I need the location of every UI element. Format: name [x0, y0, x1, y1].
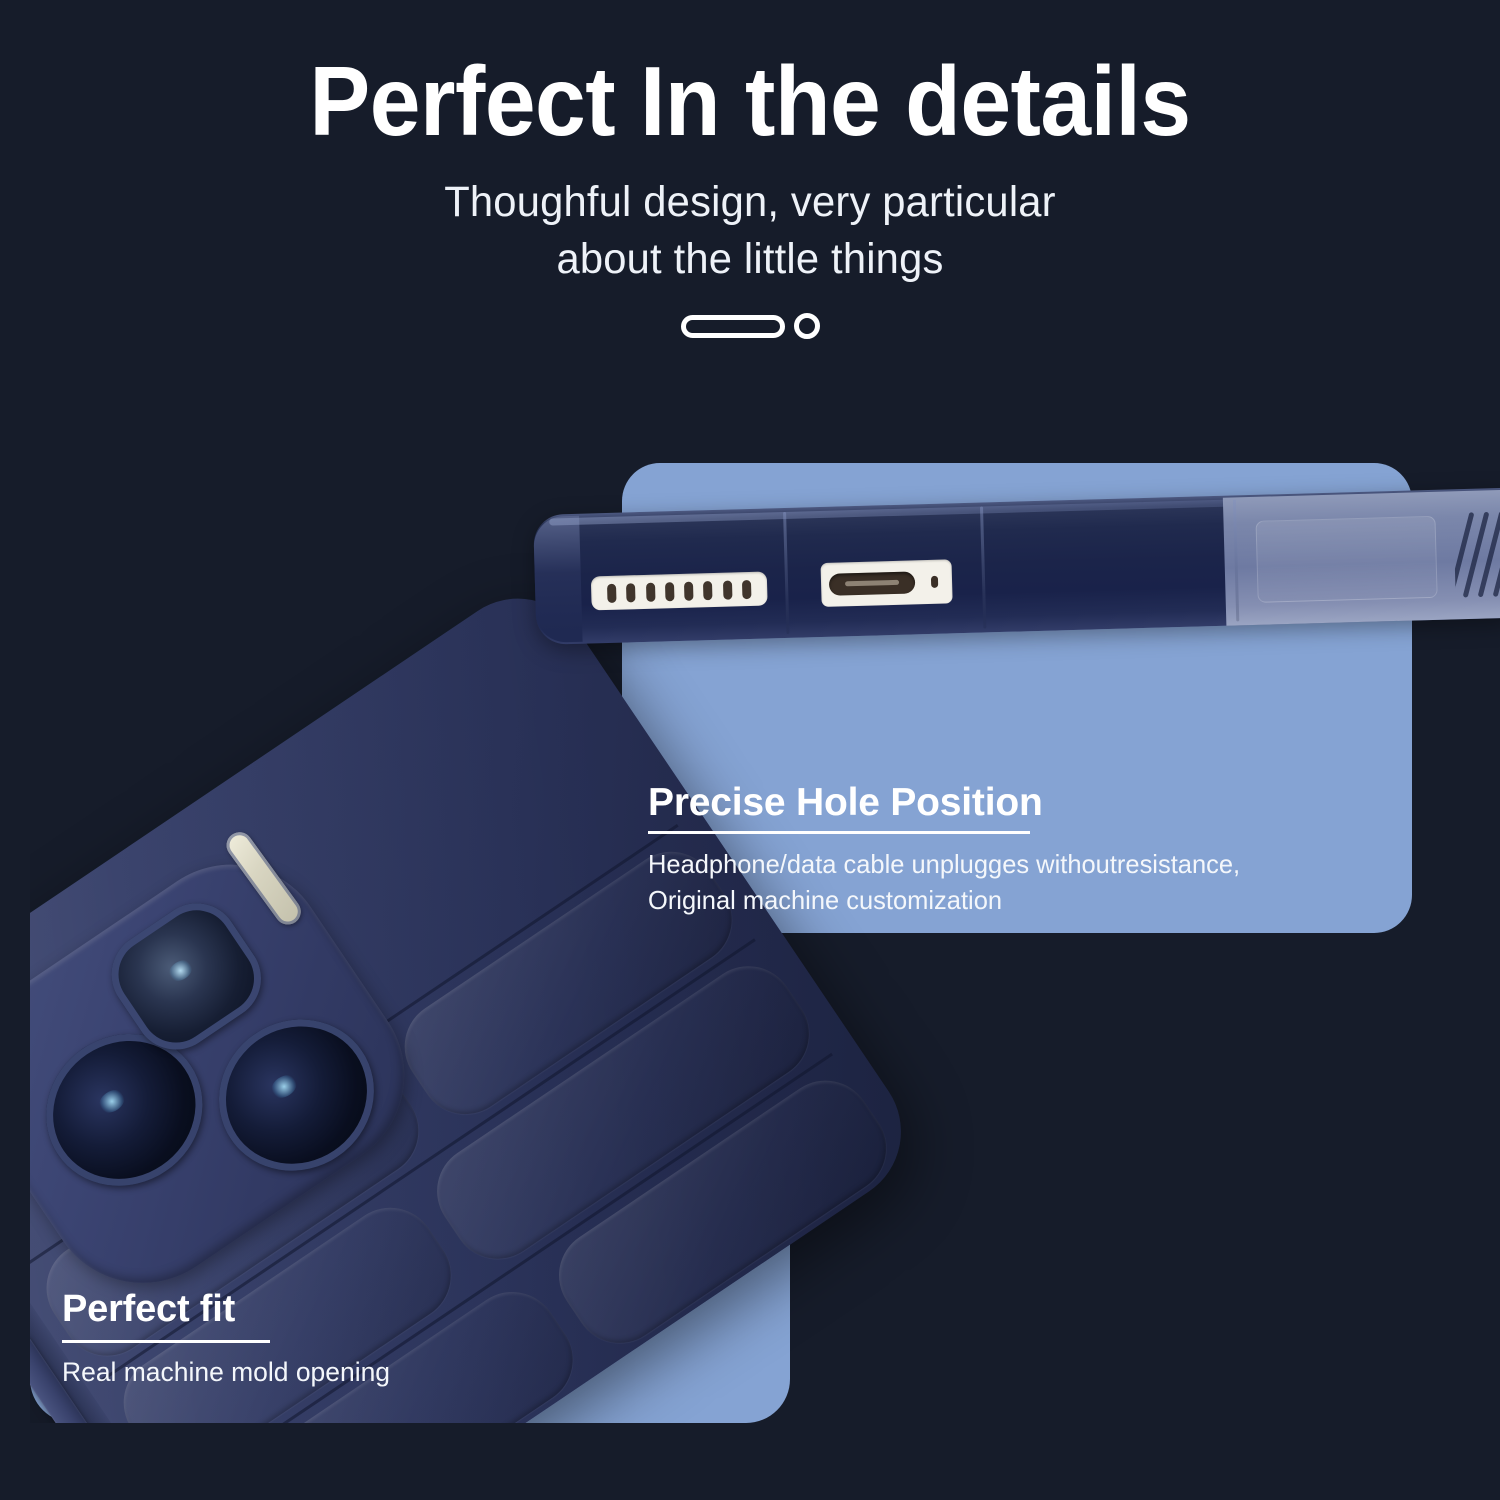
side-grip-ridges-icon — [1453, 506, 1500, 608]
case-edge-lit-panel — [1255, 516, 1437, 603]
left-mask — [0, 462, 30, 1500]
speaker-grille-icon — [591, 572, 768, 611]
phone-case-bottom-edge-photo — [533, 478, 1500, 665]
callout-body: Real machine mold opening — [62, 1354, 611, 1391]
usb-c-port-icon — [820, 559, 952, 607]
bottom-mask — [0, 1423, 1500, 1500]
callout-body-line-1: Headphone/data cable unplugges withoutre… — [648, 847, 1363, 883]
usb-c-slot — [829, 571, 916, 595]
usb-c-tongue — [845, 580, 899, 587]
header-overlay: Perfect In the details Thoughful design,… — [0, 0, 1500, 339]
camera-cutout-dot-icon — [794, 313, 820, 339]
callout-underline — [648, 831, 1030, 834]
case-edge-left-cap — [533, 516, 583, 643]
page-title-overlay: Perfect In the details — [53, 52, 1448, 152]
callout-perfect-fit: Perfect fit Real machine mold opening — [62, 1288, 622, 1391]
callout-title: Precise Hole Position — [648, 781, 1378, 825]
callout-body-line-1: Real machine mold opening — [62, 1354, 611, 1391]
page-subtitle-overlay-line-2: about the little things — [23, 231, 1478, 288]
callout-title: Perfect fit — [62, 1288, 622, 1331]
product-feature-graphic: Perfect In the details Thoughful design,… — [0, 0, 1500, 1500]
camera-cutout-pill-icon — [681, 315, 785, 338]
microphone-hole-icon — [931, 576, 938, 588]
divider-overlay — [0, 313, 1500, 339]
callout-body-line-2: Original machine customization — [648, 883, 1363, 919]
callout-underline — [62, 1340, 270, 1343]
callout-body: Headphone/data cable unplugges withoutre… — [648, 847, 1363, 919]
page-subtitle-overlay: Thoughful design, very particular about … — [23, 174, 1478, 288]
callout-precise-hole-position: Precise Hole Position Headphone/data cab… — [648, 781, 1378, 919]
page-subtitle-overlay-line-1: Thoughful design, very particular — [23, 174, 1478, 231]
